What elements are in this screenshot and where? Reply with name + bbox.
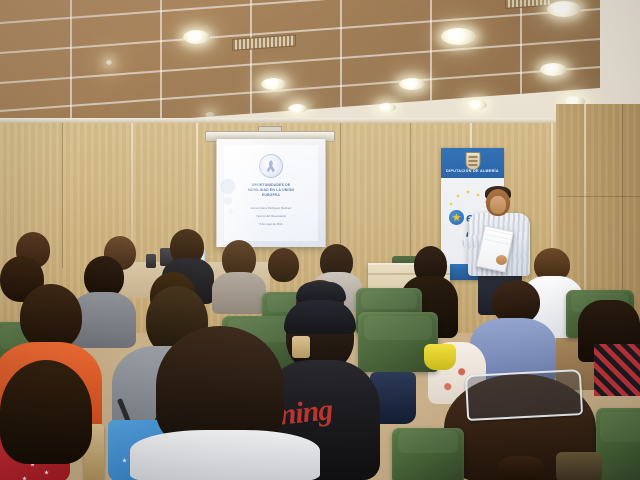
ceiling-light: [540, 63, 567, 76]
photo-scene: OPORTUNIDADES DE MOVILIDAD EN LA UNIÓN E…: [0, 0, 640, 480]
presenter-hand: [496, 255, 507, 265]
ceiling-light: [205, 112, 215, 117]
front-student-head: [0, 360, 92, 464]
ceiling-light: [399, 78, 425, 90]
banner-header: DIPUTACIÓN DE ALMERÍA: [441, 148, 504, 178]
audience-head: [20, 284, 82, 350]
eu-logo-ball-icon: [449, 210, 464, 225]
air-vent-grille: [232, 34, 296, 51]
slide-subtitle-line3: 5 de mayo de 2014: [230, 223, 312, 227]
ceiling-light: [377, 103, 396, 112]
projection-screen: OPORTUNIDADES DE MOVILIDAD EN LA UNIÓN E…: [216, 139, 326, 247]
baseball-cap: [296, 282, 346, 302]
presentation-slide: OPORTUNIDADES DE MOVILIDAD EN LA UNIÓN E…: [224, 145, 318, 241]
ceiling: [0, 0, 640, 128]
presenter-right-arm: [512, 232, 528, 258]
coat-of-arms-icon: [465, 152, 480, 170]
sunglasses-on-head[interactable]: [465, 369, 583, 421]
audience-head: [268, 248, 299, 282]
speaker-device: [146, 254, 156, 268]
front-student-head: [156, 326, 284, 446]
white-tshirt-student: [130, 430, 320, 480]
wall-ceiling-trim: [0, 118, 640, 123]
air-vent-grille: [505, 0, 551, 9]
audience-body: [212, 272, 266, 314]
ceiling-light: [106, 60, 112, 65]
bag-on-seat[interactable]: [556, 452, 602, 480]
slide-emblem-icon: [259, 154, 283, 178]
ceiling-light: [466, 100, 487, 110]
slide-subtitle-line1: Manuel Jesús Rodríguez Martínez: [230, 207, 312, 211]
slide-title-line2: MOVILIDAD EN LA UNIÓN: [230, 188, 312, 193]
slide-title-line1: OPORTUNIDADES DE: [230, 183, 312, 188]
ponytail: [498, 456, 544, 480]
banner-header-text: DIPUTACIÓN DE ALMERÍA: [441, 169, 504, 173]
ceiling-light: [288, 104, 307, 113]
seat-armrest: [292, 336, 310, 358]
ceiling-light: [183, 30, 210, 44]
ceiling-light: [547, 1, 581, 17]
baseball-cap: [284, 300, 356, 334]
auditorium-seat[interactable]: [596, 408, 640, 480]
slide-title-line3: EUROPEA: [230, 193, 312, 198]
slide-subtitle-line2: Técnico del Observatorio: [230, 215, 312, 219]
ceiling-light: [441, 28, 476, 45]
presenter-face: [490, 196, 506, 214]
yellow-drawstring-bag[interactable]: [424, 344, 456, 370]
auditorium-seat[interactable]: [392, 428, 464, 480]
patterned-top-person: [594, 344, 640, 396]
ceiling-light: [261, 78, 286, 90]
